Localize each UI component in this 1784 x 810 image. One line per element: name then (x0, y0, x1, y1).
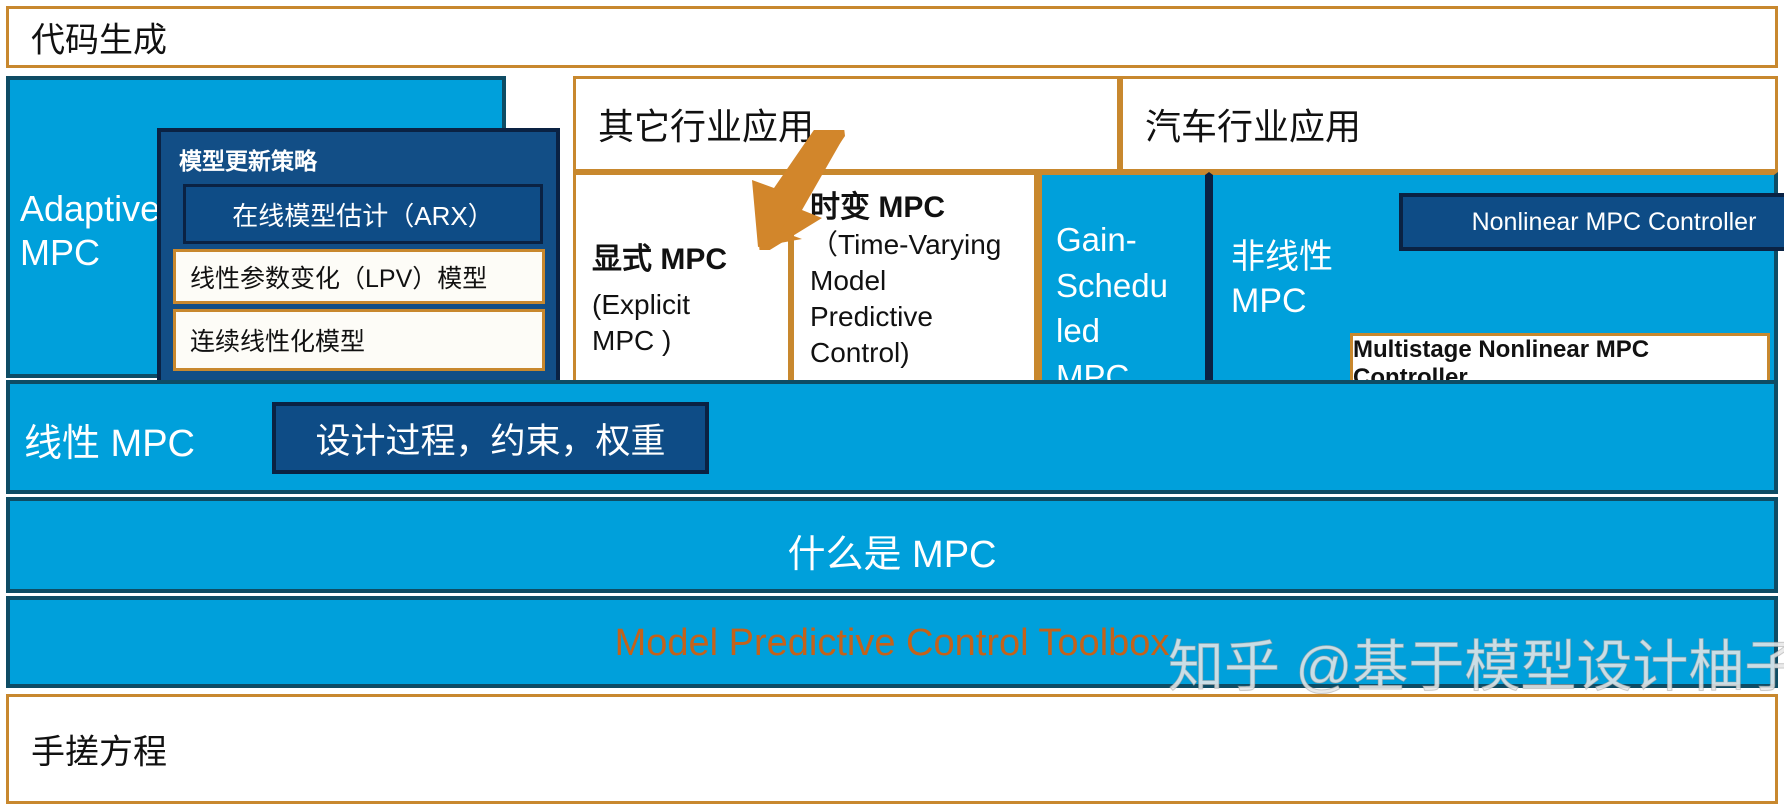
adaptive-mpc-label-line2: MPC (20, 232, 100, 274)
gain-scheduled-line-2: Schedu (1056, 263, 1168, 309)
header-automotive-industry-label: 汽车行业应用 (1145, 98, 1361, 150)
linear-mpc-label: 线性 MPC (24, 412, 195, 467)
chip-design-process-label: 设计过程，约束，权重 (315, 413, 665, 464)
block-what-is-mpc[interactable]: 什么是 MPC (6, 497, 1778, 593)
adaptive-mpc-label-line1: Adaptive (20, 188, 160, 230)
header-other-industry: 其它行业应用 (573, 76, 1120, 172)
band-hand-derived-equations-label: 手搓方程 (31, 725, 167, 774)
column-explicit-mpc-title-cn: 显式 MPC (592, 241, 772, 279)
gain-scheduled-line-3: led (1056, 308, 1168, 354)
column-explicit-mpc-title-en-2: MPC ) (592, 323, 772, 359)
what-is-mpc-label: 什么是 MPC (10, 523, 1774, 578)
panel-item-successive-linearization[interactable]: 连续线性化模型 (173, 309, 545, 371)
gain-scheduled-line-1: Gain- (1056, 217, 1168, 263)
column-time-varying-mpc-title-cn: 时变 MPC (810, 189, 1018, 227)
watermark: 知乎 @基于模型设计柚子 (1168, 622, 1784, 703)
watermark-text: 知乎 @基于模型设计柚子 (1168, 635, 1784, 698)
diagram-root: 代码生成 Adaptive MPC 模型更新策略 在线模型估计（ARX） 线性参… (0, 0, 1784, 810)
column-time-varying-mpc-en-1: （Time-Varying (810, 227, 1018, 263)
panel-model-update-strategy-title: 模型更新策略 (179, 142, 317, 176)
chip-design-process[interactable]: 设计过程，约束，权重 (272, 402, 709, 474)
header-other-industry-label: 其它行业应用 (598, 98, 814, 150)
panel-item-online-arx-label: 在线模型估计（ARX） (232, 196, 493, 233)
band-code-generation: 代码生成 (6, 6, 1778, 68)
column-time-varying-mpc-en-2: Model (810, 263, 1018, 299)
panel-item-lpv-model[interactable]: 线性参数变化（LPV）模型 (173, 249, 545, 304)
panel-model-update-strategy: 模型更新策略 在线模型估计（ARX） 线性参数变化（LPV）模型 连续线性化模型 (157, 128, 560, 413)
band-code-generation-label: 代码生成 (31, 13, 167, 62)
panel-item-online-arx[interactable]: 在线模型估计（ARX） (183, 184, 543, 244)
band-hand-derived-equations: 手搓方程 (6, 694, 1778, 804)
block-linear-mpc[interactable]: 线性 MPC 设计过程，约束，权重 (6, 380, 1778, 494)
nonlinear-mpc-label-line1: 非线性 (1231, 235, 1333, 279)
column-time-varying-mpc-en-3: Predictive (810, 299, 1018, 335)
panel-item-successive-linearization-label: 连续线性化模型 (190, 322, 365, 358)
column-time-varying-mpc-en-4: Control) (810, 335, 1018, 371)
panel-item-lpv-model-label: 线性参数变化（LPV）模型 (190, 259, 487, 295)
column-explicit-mpc-title-en-1: (Explicit (592, 287, 772, 323)
chip-nonlinear-mpc-controller[interactable]: Nonlinear MPC Controller (1399, 193, 1784, 251)
nonlinear-mpc-label-line2: MPC (1231, 279, 1333, 323)
chip-nonlinear-mpc-controller-label: Nonlinear MPC Controller (1472, 208, 1757, 237)
header-automotive-industry: 汽车行业应用 (1120, 76, 1778, 172)
